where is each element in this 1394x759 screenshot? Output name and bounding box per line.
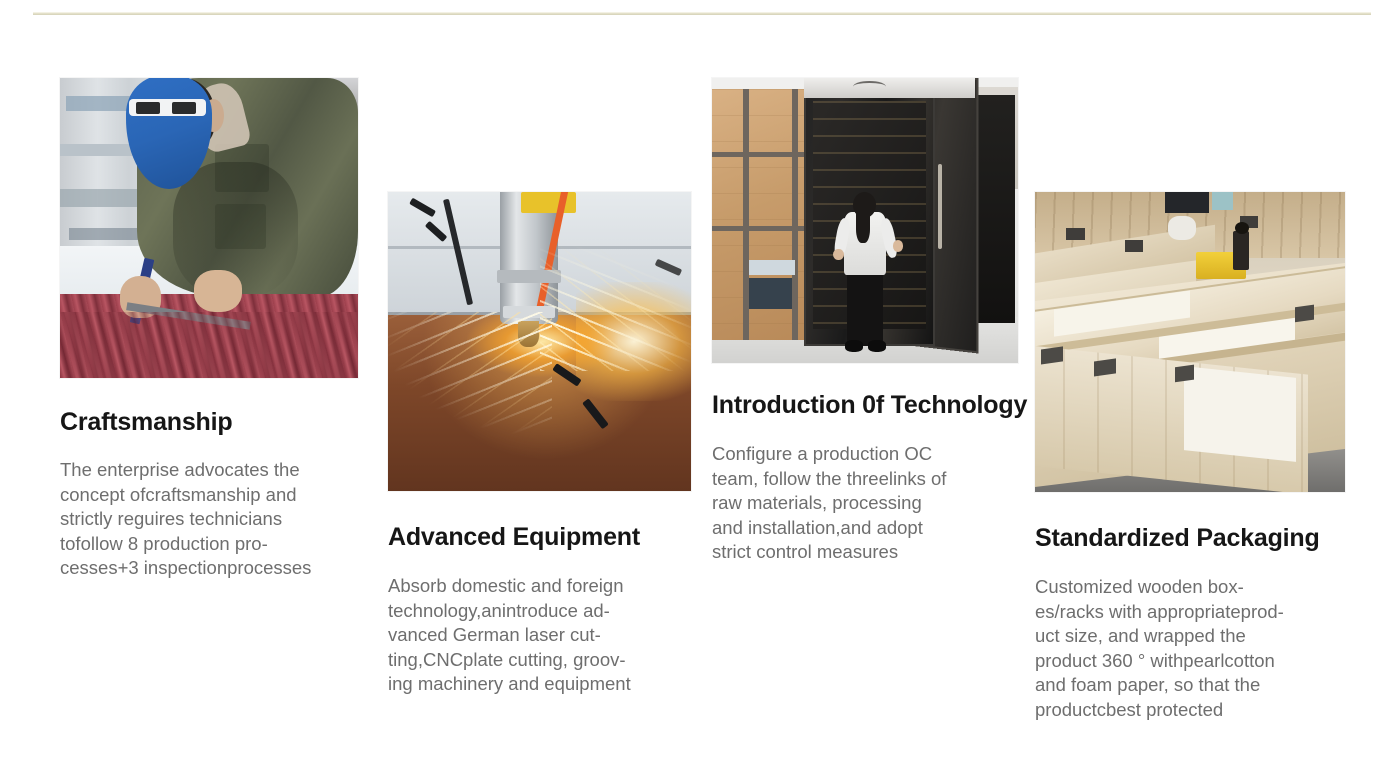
slide-root: Craftsmanship The enterprise advocates t… — [0, 0, 1394, 759]
card-body-standardized-packaging: Customized wooden box- es/racks with app… — [1035, 575, 1347, 722]
card-body-introduction-of-technology: Configure a production OC team, follow t… — [712, 442, 1012, 565]
top-divider-rule — [33, 12, 1371, 15]
card-body-craftsmanship: The enterprise advocates the concept ofc… — [60, 458, 360, 581]
photo-wooden-shipping-crates-stacked-in-warehouse — [1035, 192, 1345, 492]
card-title-introduction-of-technology: Introduction 0f Technology — [712, 391, 1024, 420]
feature-card-standardized-packaging: Standardized Packaging Customized wooden… — [1035, 192, 1355, 722]
card-title-standardized-packaging: Standardized Packaging — [1035, 524, 1355, 553]
photo-worker-with-blue-welding-mask-marking-metal-sheet — [60, 78, 358, 378]
feature-card-introduction-of-technology: Introduction 0f Technology Configure a p… — [712, 78, 1024, 565]
card-body-advanced-equipment: Absorb domestic and foreign technology,a… — [388, 574, 688, 697]
feature-card-craftsmanship: Craftsmanship The enterprise advocates t… — [60, 78, 390, 581]
photo-laser-cutting-head-with-sparks-on-metal-plate — [388, 192, 691, 491]
card-title-craftsmanship: Craftsmanship — [60, 408, 390, 437]
card-title-advanced-equipment: Advanced Equipment — [388, 523, 708, 552]
feature-card-advanced-equipment: Advanced Equipment Absorb domestic and f… — [388, 192, 708, 697]
photo-worker-inspecting-dark-glass-door-display-showroom — [712, 78, 1018, 363]
